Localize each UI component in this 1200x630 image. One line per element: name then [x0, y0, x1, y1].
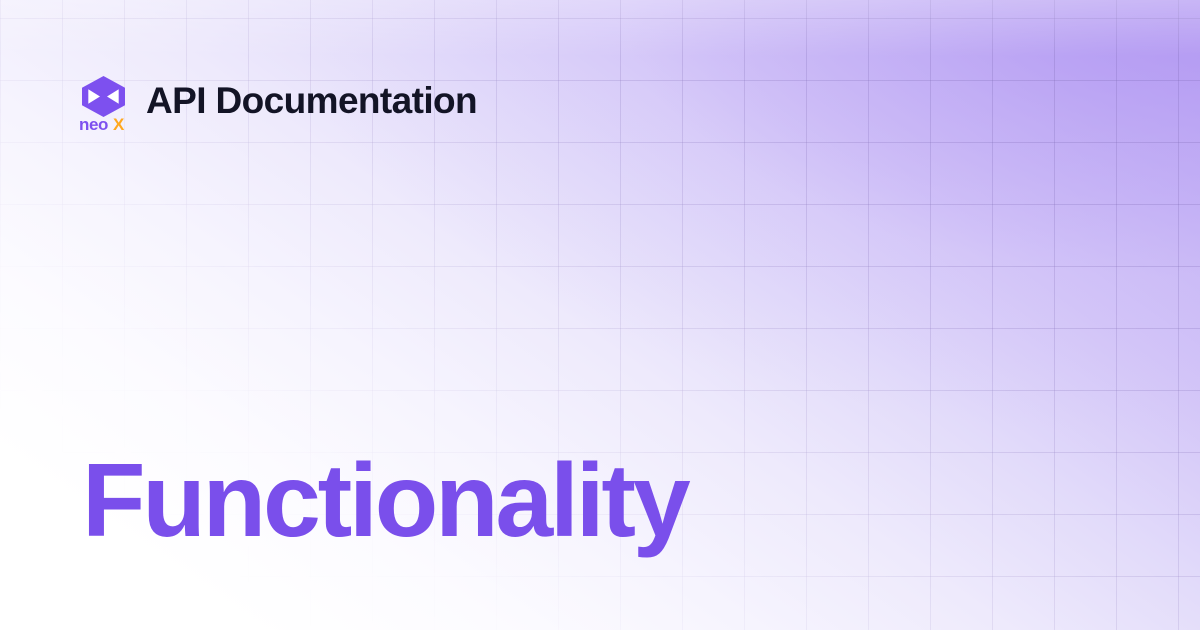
- neox-hexagon-icon: [82, 76, 125, 117]
- brand-header: neo X API Documentation: [78, 74, 477, 132]
- svg-text:neo: neo: [79, 115, 108, 132]
- page-title: Functionality: [82, 443, 688, 559]
- header-title: API Documentation: [146, 82, 477, 125]
- neox-wordmark: neo X: [79, 115, 125, 132]
- svg-text:X: X: [113, 115, 125, 132]
- neox-logo: neo X: [78, 74, 130, 132]
- og-banner: neo X API Documentation Functionality: [0, 0, 1200, 630]
